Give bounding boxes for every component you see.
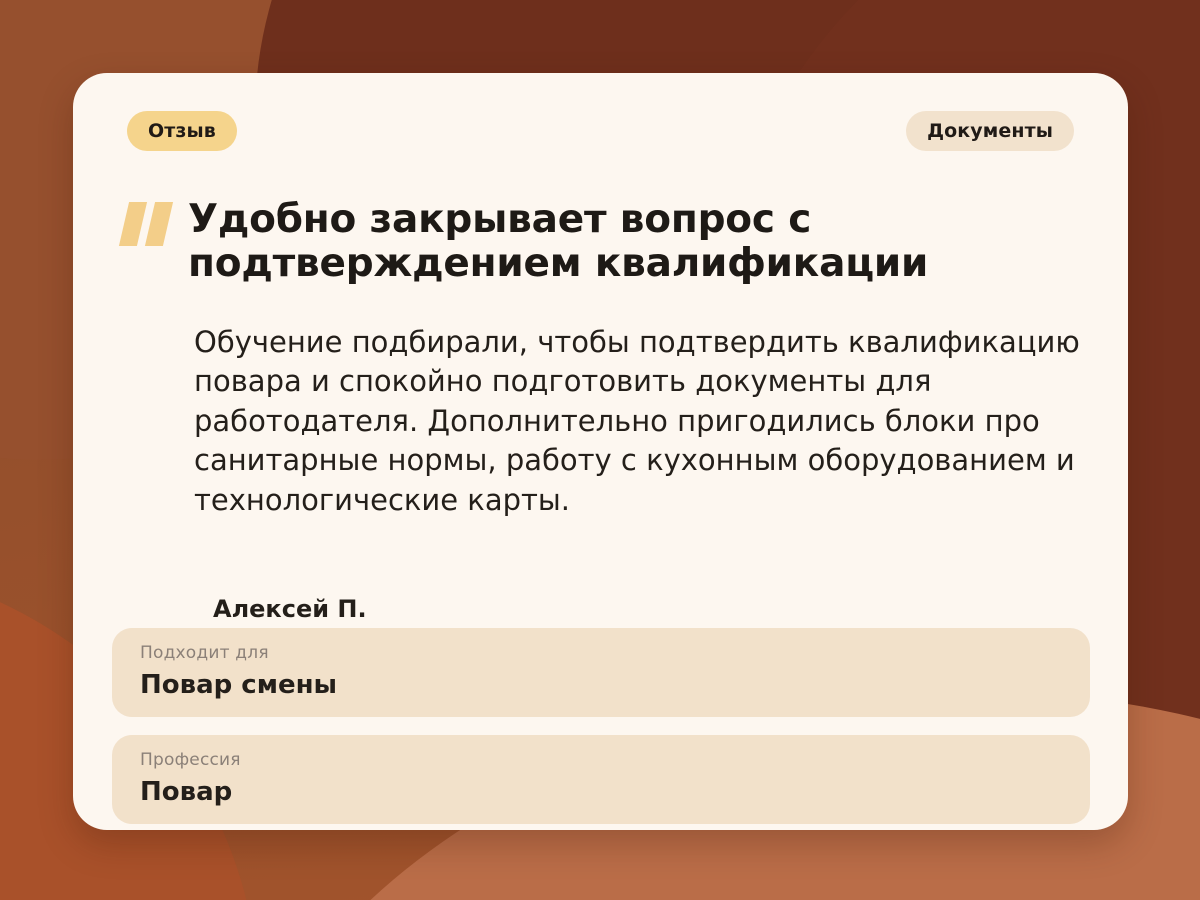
- review-scene: Отзыв Документы Удобно закрывает вопрос …: [0, 0, 1200, 900]
- meta-card-suitable-for: Подходит для Повар смены: [112, 628, 1090, 717]
- headline-block: Удобно закрывает вопрос с подтверждением…: [122, 198, 1074, 285]
- meta-label-suitable-for: Подходит для: [140, 643, 1062, 663]
- meta-value-profession: Повар: [140, 777, 1062, 807]
- badge-review-kind[interactable]: Отзыв: [127, 111, 237, 151]
- review-card: Отзыв Документы Удобно закрывает вопрос …: [73, 73, 1128, 830]
- review-meta-list: Подходит для Повар смены Профессия Повар: [112, 628, 1090, 830]
- quote-mark-icon: [122, 202, 174, 248]
- review-headline: Удобно закрывает вопрос с подтверждением…: [188, 198, 988, 285]
- review-author-name: Алексей П.: [213, 595, 367, 623]
- badge-row: Отзыв Документы: [73, 73, 1128, 193]
- badge-review-topic[interactable]: Документы: [906, 111, 1074, 151]
- review-body-text: Обучение подбирали, чтобы подтвердить кв…: [194, 323, 1084, 520]
- meta-value-suitable-for: Повар смены: [140, 670, 1062, 700]
- meta-card-profession: Профессия Повар: [112, 735, 1090, 824]
- meta-label-profession: Профессия: [140, 750, 1062, 770]
